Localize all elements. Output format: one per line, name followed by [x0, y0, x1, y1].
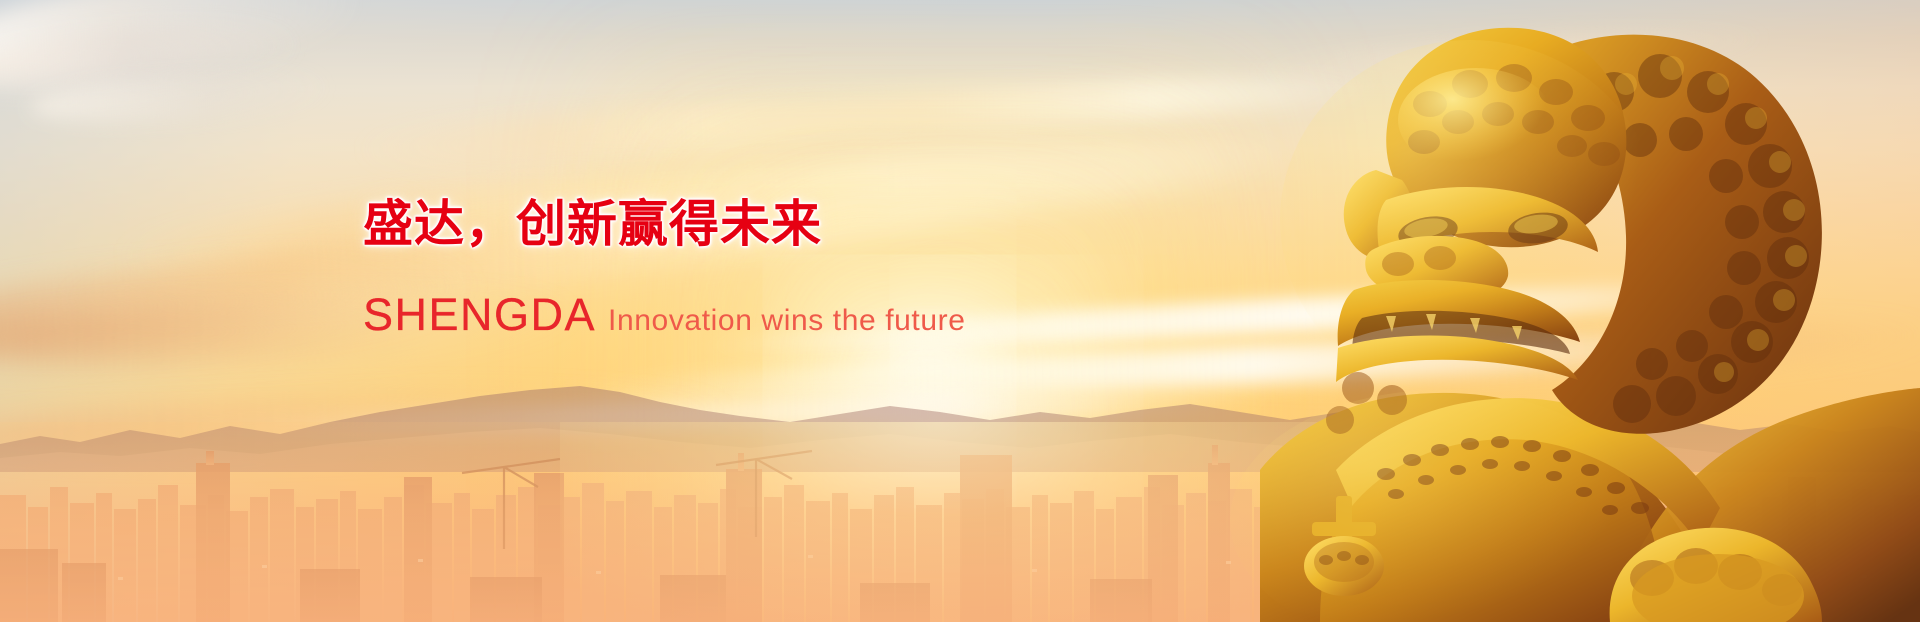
hero-subtitle-line: SHENGDAInnovation wins the future — [363, 292, 966, 337]
tagline-text: Innovation wins the future — [608, 304, 965, 337]
page-title: 盛达，创新赢得未来 — [363, 196, 966, 252]
hero-banner: 盛达，创新赢得未来 SHENGDAInnovation wins the fut… — [0, 0, 1920, 622]
hero-copy-block: 盛达，创新赢得未来 SHENGDAInnovation wins the fut… — [363, 196, 966, 337]
hazy-city-skyline — [0, 437, 1920, 622]
brand-latin-name: SHENGDA — [363, 289, 596, 340]
